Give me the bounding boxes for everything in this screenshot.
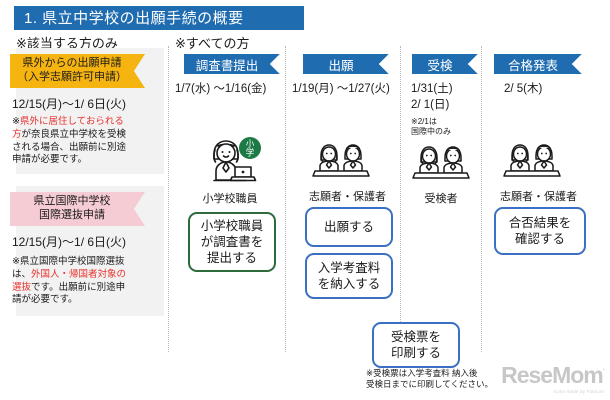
action2-line1: 出願する	[324, 220, 374, 234]
applicant-guardian-icon	[500, 140, 564, 182]
bottom-note-line1: ※受検票は入学考査料 納入後	[366, 368, 478, 378]
note2-red-1: 外国人・帰国者対象の	[31, 269, 126, 280]
action4-line2: 印刷する	[391, 346, 441, 360]
flow-date-exam-line2: 2/ 1(日)	[411, 99, 449, 111]
action-box-check-results[interactable]: 合否結果を 確認する	[494, 207, 586, 255]
left-badge-out-of-prefecture: 県外からの出願申請 （入学志願許可申請）	[10, 54, 134, 88]
person-group-examinee: 受検者	[409, 142, 473, 206]
action3-line1: 入学考査料	[318, 261, 381, 275]
person-group-school-staff: 小 学 小学校職員	[194, 136, 266, 206]
left-badge2-line2: 国際選抜申請	[39, 209, 105, 223]
action-box-submit-report[interactable]: 小学校職員 が調査書を 提出する	[188, 212, 276, 272]
flow-header-results-announcement: 合格発表	[494, 54, 572, 74]
applicant-guardian-icon	[309, 140, 373, 182]
flow-date-exam-line1: 1/31(土)	[411, 83, 453, 95]
bottom-note: ※受検票は入学考査料 納入後 受検日までに印刷してください。	[366, 368, 493, 391]
left-badge-line1: 県外からの出願申請	[23, 57, 122, 71]
note-plain-2: が奈良県立中学校を受検	[22, 129, 127, 140]
action-box-pay-exam-fee[interactable]: 入学考査料 を納入する	[305, 253, 393, 299]
bottom-note-line2: 受検日までに印刷してください。	[366, 379, 493, 389]
note-red-2: 方	[12, 129, 22, 140]
flow-subnote-exam-line2: 国際中のみ	[411, 127, 451, 136]
note-marker: ※	[12, 116, 20, 127]
flow-date-document-submission: 1/7(水) 〜1/16(金)	[175, 82, 266, 98]
flow-header-application: 出願	[303, 54, 379, 74]
flow-subnote-exam-line1: ※2/1は	[411, 117, 437, 126]
person-label-applicant-guardian-1: 志願者・保護者	[309, 188, 373, 204]
left-badge2-line1: 県立国際中学校	[34, 195, 111, 209]
action4-line1: 受検票を	[391, 330, 441, 344]
note2-plain-2: は、	[12, 269, 31, 280]
flow-header-document-submission: 調査書提出	[184, 54, 270, 74]
person-label-applicant-guardian-2: 志願者・保護者	[500, 188, 564, 204]
divider-step-1	[285, 46, 286, 352]
note2-plain-1: ※県立国際中学校国際選抜	[12, 256, 124, 267]
note2-plain-3: です。出願前に別途申	[31, 282, 125, 293]
action-line3: 提出する	[207, 251, 257, 265]
left-note-international-selection: ※県立国際中学校国際選抜 は、外国人・帰国者対象の 選抜です。出願前に別途申 請…	[12, 256, 146, 307]
flow-date-application: 1/19(月) 〜1/27(火)	[292, 82, 390, 98]
note-plain-3: される場合、出願前に別途	[12, 142, 126, 153]
left-date-out-of-prefecture: 12/15(月)〜1/ 6日(火)	[12, 95, 152, 112]
action-box-print-exam-ticket[interactable]: 受検票を 印刷する	[372, 322, 460, 368]
action5-line2: 確認する	[515, 232, 565, 246]
divider-step-3	[481, 46, 482, 352]
person-label-examinee: 受検者	[409, 190, 473, 206]
action3-line2: を納入する	[318, 277, 381, 291]
section-caption-right: ※すべての方	[175, 33, 249, 52]
left-badge-international-selection: 県立国際中学校 国際選抜申請	[10, 192, 134, 226]
left-note-out-of-prefecture: ※県外に居住しておられる 方が奈良県立中学校を受検 される場合、出願前に別途 申…	[12, 116, 146, 167]
watermark-subtext: Icons made by Flaticon	[553, 389, 604, 394]
watermark-logo-text: ReseMom.	[501, 364, 604, 387]
watermark-main: ReseMom	[501, 362, 603, 388]
left-date-international-selection: 12/15(月)〜1/ 6日(火)	[12, 233, 152, 250]
divider-left-column	[168, 46, 169, 352]
person-group-applicant-guardian-2: 志願者・保護者	[500, 140, 564, 204]
flow-subnote-exam: ※2/1は 国際中のみ	[411, 117, 451, 138]
flow-date-exam: 1/31(土) 2/ 1(日)	[411, 82, 453, 113]
person-group-applicant-guardian-1: 志願者・保護者	[309, 140, 373, 204]
svg-text:学: 学	[246, 148, 255, 158]
divider-step-2	[400, 46, 401, 352]
note-red-1: 県外に居住しておられる	[20, 116, 124, 127]
action-line1: 小学校職員	[201, 219, 264, 233]
person-label-school-staff: 小学校職員	[194, 190, 266, 206]
action-line2: が調査書を	[201, 235, 264, 249]
note2-plain-4: 請が必要です。	[12, 294, 78, 305]
action-box-apply[interactable]: 出願する	[305, 207, 393, 247]
note2-red-2: 選抜	[12, 282, 31, 293]
action5-line1: 合否結果を	[509, 216, 572, 230]
flow-date-results-announcement: 2/ 5(木)	[504, 82, 542, 98]
examinee-icon	[409, 142, 473, 184]
flow-header-exam: 受検	[412, 54, 468, 74]
watermark-tm: .	[603, 363, 604, 372]
teacher-laptop-icon: 小 学	[194, 136, 266, 184]
note-plain-4: 申請が必要です。	[12, 154, 87, 165]
page-title: 1. 県立中学校の出願手続の概要	[14, 11, 244, 26]
page-title-bar: 1. 県立中学校の出願手続の概要	[14, 6, 304, 30]
resemom-watermark: ReseMom. Icons made by Flaticon	[501, 364, 604, 394]
left-badge-line2: （入学志願許可申請）	[17, 71, 127, 85]
